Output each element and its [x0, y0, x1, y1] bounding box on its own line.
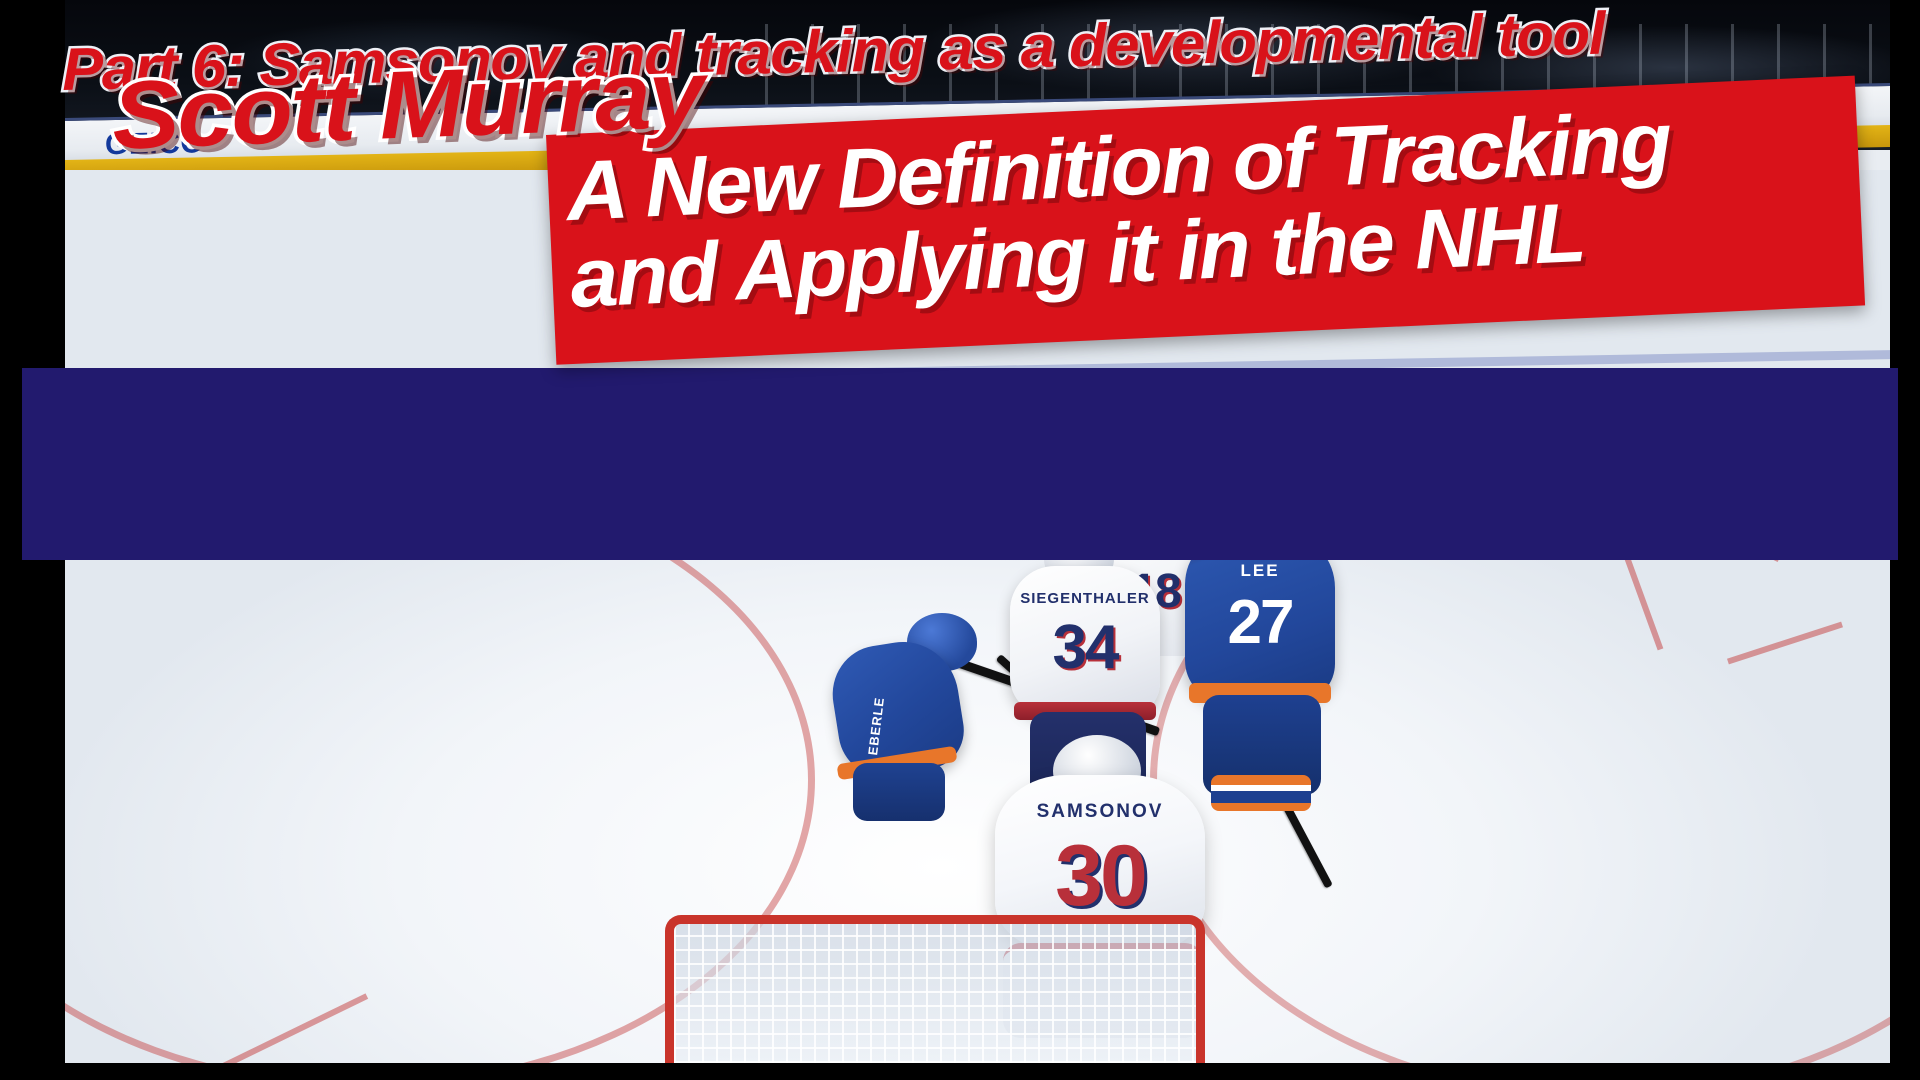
jersey-name: LEE	[1185, 561, 1335, 581]
subtitle-banner	[22, 368, 1898, 560]
title-slide: GEICO GEICO Enterprise 18	[0, 0, 1920, 1080]
letterbox-bottom	[0, 1063, 1920, 1080]
goal-net	[665, 915, 1205, 1063]
socks	[1211, 775, 1311, 811]
jersey-number: 30	[995, 827, 1205, 926]
jersey: SIEGENTHALER 34	[1010, 566, 1160, 716]
jersey-name: SIEGENTHALER	[1010, 590, 1160, 607]
author-name: Scott Murray	[110, 39, 705, 172]
jersey-number: 27	[1185, 587, 1335, 658]
player-islanders-7-eberle: EBERLE 7	[835, 605, 970, 820]
letterbox-left	[0, 0, 65, 368]
letterbox-left-lower	[0, 560, 22, 1080]
jersey-name: SAMSONOV	[995, 801, 1205, 823]
pants	[853, 763, 945, 821]
jersey-number: 34	[1010, 612, 1160, 683]
